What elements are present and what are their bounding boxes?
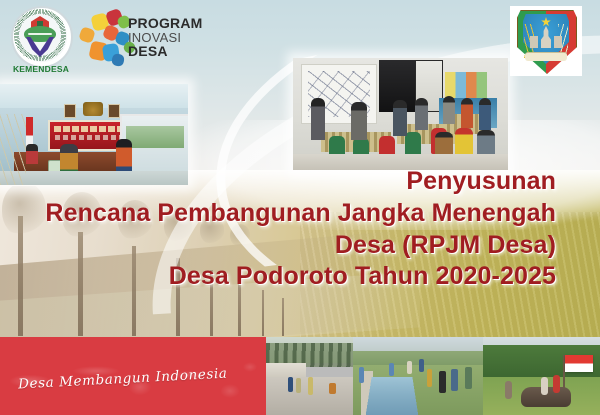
- page-title: Penyusunan Rencana Pembangunan Jangka Me…: [16, 166, 556, 293]
- program-inovasi-desa-logo: PROGRAM INOVASI DESA: [80, 8, 190, 72]
- pid-line-3: DESA: [128, 44, 203, 59]
- title-line-2: Rencana Pembangunan Jangka Menengah: [16, 198, 556, 230]
- pid-line-1: PROGRAM: [128, 16, 203, 31]
- title-line-1: Penyusunan: [16, 166, 556, 198]
- title-line-3: Desa (RPJM Desa): [16, 230, 556, 262]
- title-line-4: Desa Podoroto Tahun 2020-2025: [16, 261, 556, 293]
- kemendesa-wordmark: KEMENDESA: [8, 64, 74, 74]
- kemendesa-logo: KEMENDESA: [8, 4, 74, 80]
- photo-irrigation-canal: [353, 337, 483, 415]
- photo-village-meeting: [293, 58, 508, 170]
- photo-village-street: [266, 337, 353, 415]
- report-cover: Penyusunan Rencana Pembangunan Jangka Me…: [0, 0, 600, 415]
- tagline-banner: Desa Membangun Indonesia: [0, 337, 266, 415]
- pid-line-2: INOVASI: [128, 31, 203, 45]
- regency-emblem: [510, 6, 582, 76]
- photo-children-buffalo: [483, 337, 600, 415]
